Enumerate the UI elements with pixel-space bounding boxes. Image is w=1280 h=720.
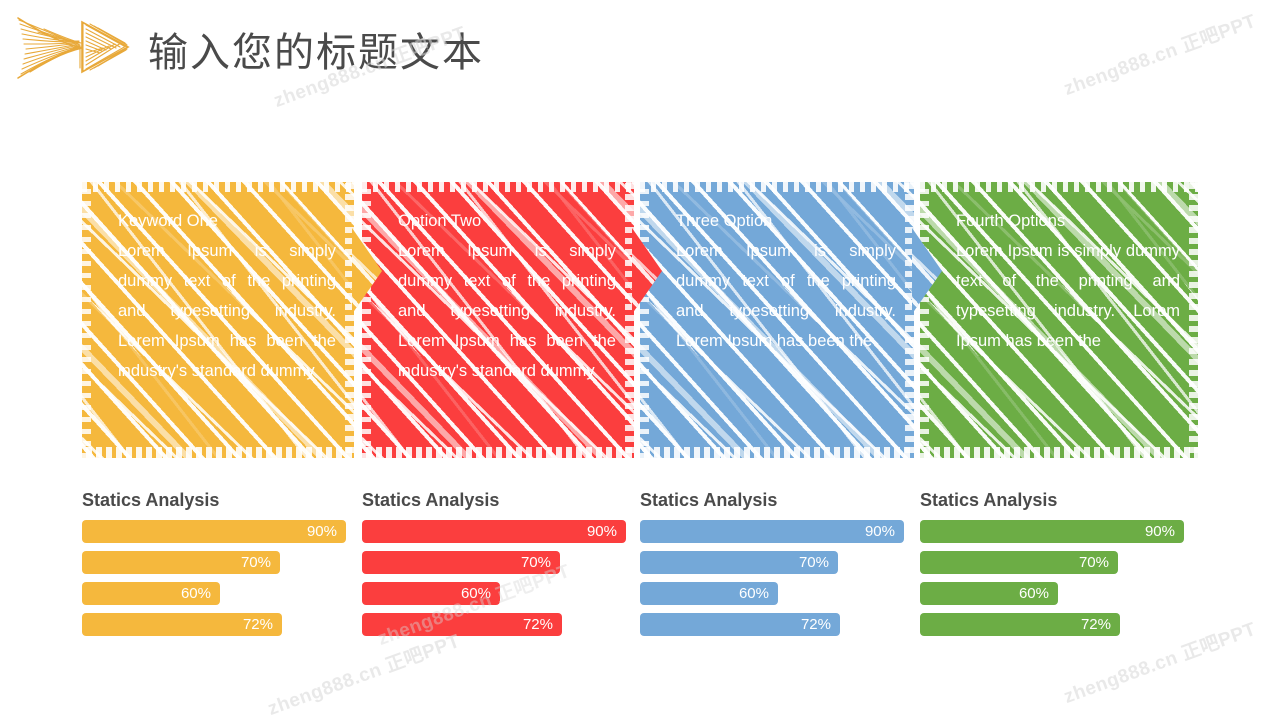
stats-column-green: Statics Analysis 90% 70% 60% 72%	[920, 490, 1200, 644]
stats-bar-label: 90%	[307, 523, 346, 540]
panel-option-two[interactable]: Option Two Lorem Ipsum is simply dummy t…	[362, 182, 634, 458]
stats-bar-label: 70%	[241, 554, 280, 571]
panel-body-text: Lorem Ipsum is simply dummy text of the …	[676, 242, 896, 350]
panel-three-option[interactable]: Three Option Lorem Ipsum is simply dummy…	[640, 182, 914, 458]
panel-text: Option Two Lorem Ipsum is simply dummy t…	[398, 206, 616, 386]
stats-title: Statics Analysis	[920, 490, 1200, 511]
stats-bar: 70%	[362, 551, 560, 574]
panel-body-text: Lorem Ipsum is simply dummy text of the …	[118, 242, 336, 380]
stats-title: Statics Analysis	[82, 490, 362, 511]
stats-bar-label: 70%	[1079, 554, 1118, 571]
stats-bar: 60%	[82, 582, 220, 605]
stats-bar: 70%	[920, 551, 1118, 574]
stats-bar-label: 70%	[521, 554, 560, 571]
stats-bar-label: 60%	[181, 585, 220, 602]
stats-bar-label: 90%	[1145, 523, 1184, 540]
slide-header: 输入您的标题文本	[0, 0, 1280, 110]
stats-bar-label: 72%	[523, 616, 562, 633]
page-title: 输入您的标题文本	[148, 20, 484, 78]
stats-bar: 72%	[920, 613, 1120, 636]
sketch-arrow-right-icon	[10, 8, 134, 88]
panel-text: Keyword One Lorem Ipsum is simply dummy …	[118, 206, 336, 386]
panel-body-text: Lorem Ipsum is simply dummy text of the …	[398, 242, 616, 380]
stats-bar-label: 90%	[587, 523, 626, 540]
stats-bar-label: 72%	[1081, 616, 1120, 633]
stats-title: Statics Analysis	[362, 490, 642, 511]
stats-bar-label: 90%	[865, 523, 904, 540]
stats-bar: 90%	[920, 520, 1184, 543]
stats-bar: 60%	[920, 582, 1058, 605]
panel-keyword: Keyword One	[118, 206, 336, 236]
stats-bar: 72%	[640, 613, 840, 636]
panel-keyword: Option Two	[398, 206, 616, 236]
stats-column-yellow: Statics Analysis 90% 70% 60% 72%	[82, 490, 362, 644]
stats-bar: 60%	[362, 582, 500, 605]
panel-text: Three Option Lorem Ipsum is simply dummy…	[676, 206, 896, 356]
panel-body-text: Lorem Ipsum is simply dummy text of the …	[956, 242, 1180, 350]
stats-bar: 90%	[82, 520, 346, 543]
stats-bar-label: 72%	[801, 616, 840, 633]
panel-row: Keyword One Lorem Ipsum is simply dummy …	[82, 182, 1198, 458]
stats-bar: 70%	[640, 551, 838, 574]
panel-text: Fourth Options Lorem Ipsum is simply dum…	[956, 206, 1180, 356]
stats-bar-label: 60%	[461, 585, 500, 602]
panel-fourth-options[interactable]: Fourth Options Lorem Ipsum is simply dum…	[920, 182, 1198, 458]
stats-bar: 90%	[640, 520, 904, 543]
stats-bar: 60%	[640, 582, 778, 605]
stats-column-blue: Statics Analysis 90% 70% 60% 72%	[640, 490, 920, 644]
stats-bar: 70%	[82, 551, 280, 574]
stats-column-red: Statics Analysis 90% 70% 60% 72%	[362, 490, 642, 644]
stats-bar: 72%	[82, 613, 282, 636]
statistics-row: Statics Analysis 90% 70% 60% 72% Statics…	[82, 490, 1202, 650]
stats-bar-label: 60%	[1019, 585, 1058, 602]
panel-keyword: Fourth Options	[956, 206, 1180, 236]
stats-bar-label: 70%	[799, 554, 838, 571]
panel-keyword-one[interactable]: Keyword One Lorem Ipsum is simply dummy …	[82, 182, 354, 458]
stats-title: Statics Analysis	[640, 490, 920, 511]
stats-bar-label: 60%	[739, 585, 778, 602]
stats-bar: 90%	[362, 520, 626, 543]
panel-keyword: Three Option	[676, 206, 896, 236]
stats-bar-label: 72%	[243, 616, 282, 633]
slide-canvas: 输入您的标题文本 Keyword One Lorem Ipsum is simp…	[0, 0, 1280, 720]
stats-bar: 72%	[362, 613, 562, 636]
